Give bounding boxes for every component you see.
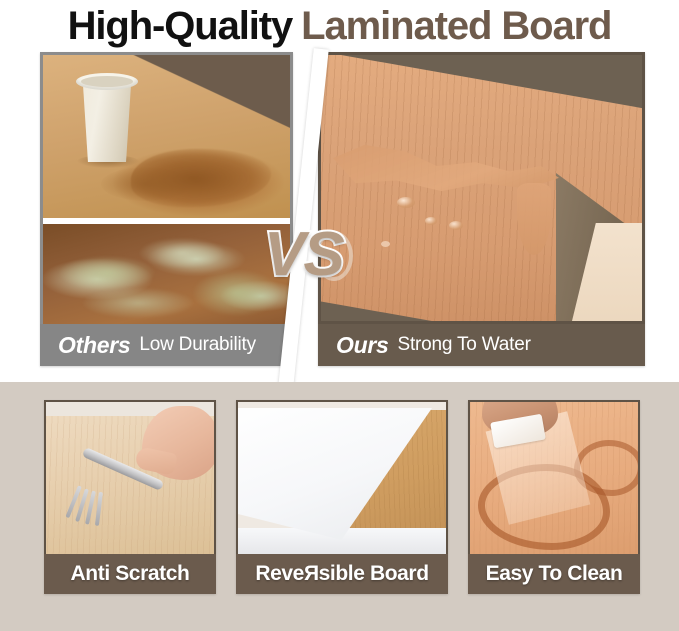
feature-label: ReveЯsible Board <box>255 562 428 586</box>
fork-tine <box>95 492 103 526</box>
ours-title: Ours <box>336 332 388 359</box>
feature-card-easy-to-clean: Easy To Clean <box>468 400 640 594</box>
others-title: Others <box>58 332 130 359</box>
page-title-part2: Laminated Board <box>301 6 611 46</box>
comparison-section: Others Low Durability Ours Strong To Wat… <box>0 48 679 373</box>
anti-scratch-photo <box>46 402 214 554</box>
reversible-board-photo <box>238 402 446 554</box>
paper-cup-rim <box>76 73 138 90</box>
ours-panel: Ours Strong To Water <box>318 52 645 366</box>
features-row: Anti Scratch ReveЯsible Board <box>44 400 640 594</box>
ours-waterproof-photo <box>321 55 642 321</box>
feature-label: Anti Scratch <box>71 562 190 586</box>
mold-patch <box>59 256 155 290</box>
page-title: High-Quality Laminated Board <box>0 0 679 52</box>
others-panel: Others Low Durability <box>40 52 293 366</box>
feature-caption-bar: Easy To Clean <box>468 554 640 594</box>
others-spill-photo <box>43 55 290 218</box>
mold-patch <box>83 288 193 318</box>
water-bead <box>397 197 415 208</box>
feature-card-reversible-board: ReveЯsible Board <box>236 400 448 594</box>
water-bead <box>449 221 463 230</box>
mold-patch <box>139 238 225 268</box>
others-subtitle: Low Durability <box>139 334 256 356</box>
feature-card-anti-scratch: Anti Scratch <box>44 400 216 594</box>
vs-badge: VS <box>264 224 343 286</box>
feature-caption-bar: ReveЯsible Board <box>236 554 448 594</box>
ours-caption-bar: Ours Strong To Water <box>318 324 645 366</box>
features-section: Anti Scratch ReveЯsible Board <box>0 382 679 631</box>
water-bead <box>381 241 390 247</box>
others-caption-bar: Others Low Durability <box>40 324 293 366</box>
others-mold-photo <box>43 224 290 324</box>
feature-label: Easy To Clean <box>486 562 623 586</box>
water-bead <box>425 217 437 225</box>
spill-puddle-secondary <box>101 167 191 201</box>
ours-subtitle: Strong To Water <box>397 334 530 356</box>
page-title-part1: High-Quality <box>68 6 293 46</box>
easy-to-clean-photo <box>470 402 638 554</box>
feature-caption-bar: Anti Scratch <box>44 554 216 594</box>
product-infographic: High-Quality Laminated Board Others Low … <box>0 0 679 631</box>
